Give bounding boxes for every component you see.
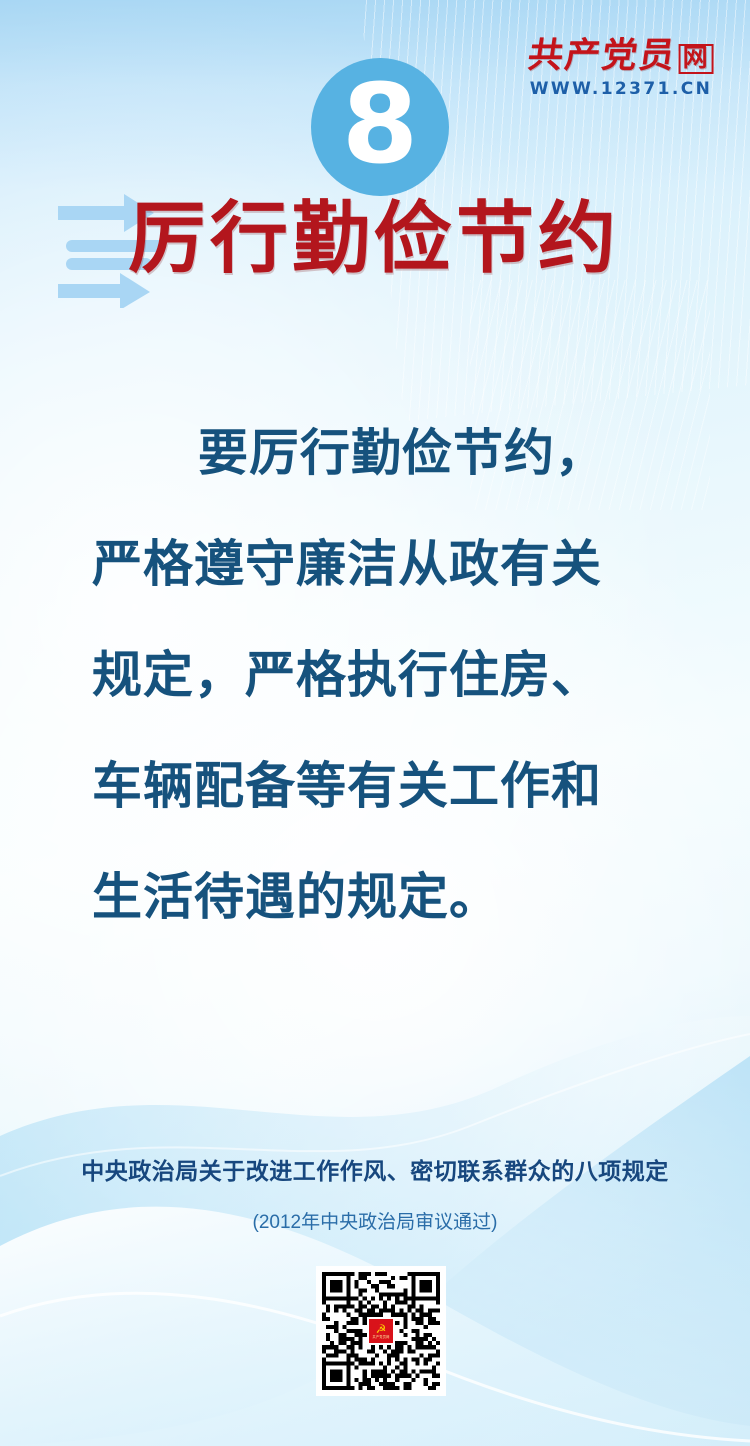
page-title: 厉行勤俭节约: [128, 196, 668, 280]
body-line: 规定，严格执行住房、: [92, 620, 662, 731]
body-line: 车辆配备等有关工作和: [92, 731, 662, 842]
number-badge: 8: [311, 58, 449, 196]
hammer-sickle-icon: ☭: [376, 1323, 387, 1335]
poster-canvas: 共产党员网 WWW.12371.CN 8 厉行勤俭节约 要厉行勤俭节约， 严格遵…: [0, 0, 750, 1446]
number-badge-value: 8: [342, 69, 419, 179]
party-emblem-caption: 共产党员网: [373, 1336, 390, 1339]
body-line: 要厉行勤俭节约，: [92, 398, 662, 509]
qr-code[interactable]: ☭ 共产党员网: [316, 1266, 446, 1396]
logo-url: WWW.12371.CN: [516, 79, 726, 99]
logo-boxed-char: 网: [679, 44, 714, 74]
body-paragraph: 要厉行勤俭节约， 严格遵守廉洁从政有关 规定，严格执行住房、 车辆配备等有关工作…: [92, 398, 662, 953]
body-line: 严格遵守廉洁从政有关: [92, 509, 662, 620]
logo-wordmark-text: 共产党员: [525, 36, 678, 75]
footer-title: 中央政治局关于改进工作作风、密切联系群众的八项规定: [0, 1152, 750, 1186]
logo-wordmark: 共产党员网: [513, 38, 728, 74]
site-logo[interactable]: 共产党员网 WWW.12371.CN: [516, 38, 726, 99]
qr-code-matrix: ☭ 共产党员网: [322, 1272, 440, 1390]
party-emblem-icon: ☭ 共产党员网: [367, 1317, 395, 1345]
footer-subtitle: (2012年中央政治局审议通过): [0, 1207, 750, 1234]
body-line: 生活待遇的规定。: [92, 842, 662, 953]
